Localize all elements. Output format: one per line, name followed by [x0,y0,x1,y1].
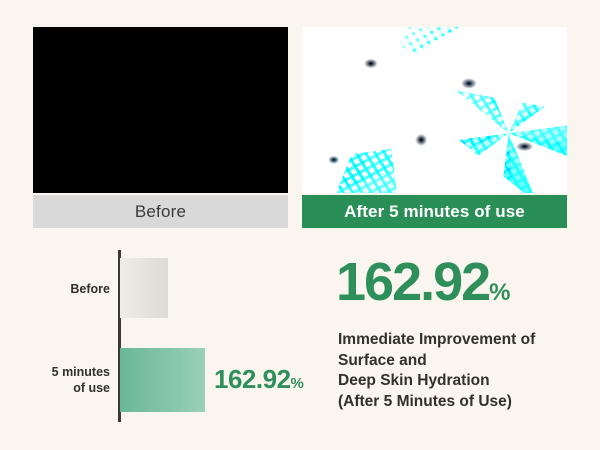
callout-headline-percent: % [489,279,509,306]
callout-headline-number: 162.92 [336,252,489,312]
chart-bar-after [120,348,205,412]
chart-bar-before [120,258,168,318]
before-caption-label: Before [135,202,186,222]
after-caption-label: After 5 minutes of use [344,202,525,222]
chart-bar-after-value-percent: % [291,375,304,392]
chart-bar-after-value: 162.92% [214,364,303,395]
after-caption-bar: After 5 minutes of use [302,195,567,228]
infographic-root: Before After 5 minutes of use Before 5 m… [0,0,600,450]
callout-description-line-4: (After 5 Minutes of Use) [338,392,588,413]
callout-description-line-2: Surface and [338,351,588,372]
after-microscopy-image [302,27,567,193]
chart-label-after: 5 minutes of use [10,365,110,396]
callout-headline: 162.92% [336,255,510,309]
chart-label-after-line-2: of use [10,381,110,397]
callout-description: Immediate Improvement of Surface and Dee… [338,330,588,412]
before-microscopy-texture [33,27,288,193]
chart-bar-after-value-number: 162.92 [214,364,291,394]
after-microscopy-texture [302,27,567,193]
chart-label-before: Before [10,282,110,298]
chart-label-before-line-1: Before [10,282,110,298]
callout-description-line-1: Immediate Improvement of [338,330,588,351]
before-microscopy-image [33,27,288,193]
callout-description-line-3: Deep Skin Hydration [338,371,588,392]
before-caption-bar: Before [33,195,288,228]
chart-label-after-line-1: 5 minutes [10,365,110,381]
